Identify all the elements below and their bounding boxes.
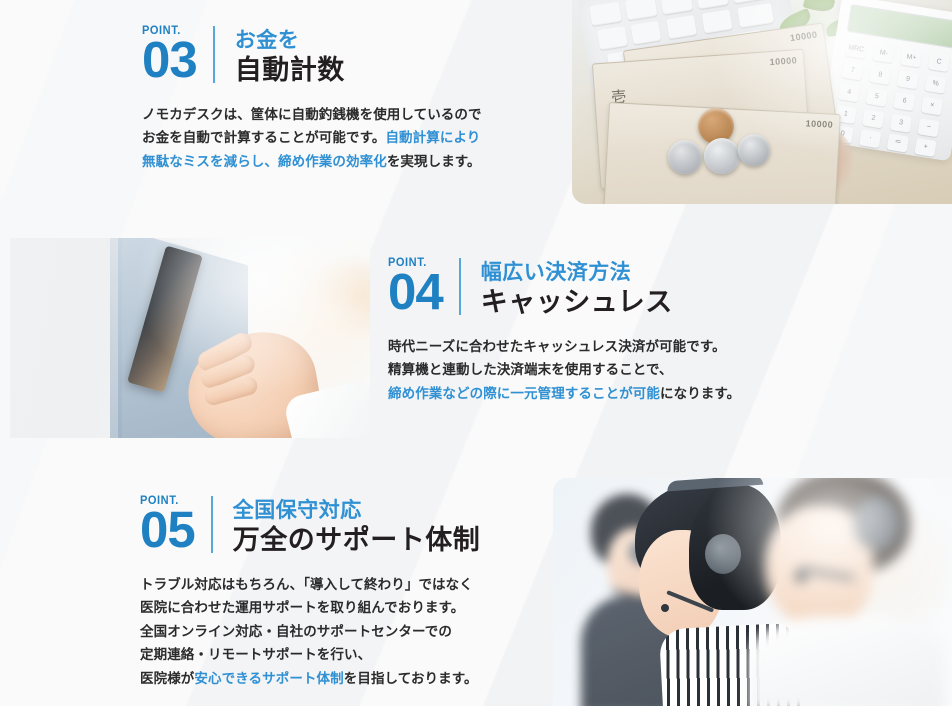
- point-titles-04: 幅広い決済方法 キャッシュレス: [481, 256, 673, 319]
- body-line: 締め作業などの際に一元管理することが可能になります。: [388, 382, 818, 406]
- point-header-03: POINT. 03 お金を 自動計数: [142, 24, 502, 87]
- point-badge-03: POINT. 03: [142, 24, 213, 84]
- point-header-05: POINT. 05 全国保守対応 万全のサポート体制: [140, 494, 540, 557]
- body-text-run: を実現します。: [387, 154, 481, 169]
- body-text-highlight: 無駄なミスを減らし、締め作業の効率化: [142, 154, 387, 169]
- point-divider: [459, 258, 461, 315]
- support-staff-foreground: [749, 478, 949, 706]
- body-text-run: 医院様が: [140, 671, 194, 686]
- body-line: お金を自動で計算することが可能です。自動計算により: [142, 126, 502, 150]
- body-line: 医院様が安心できるサポート体制を目指しております。: [140, 667, 540, 691]
- point-number: 04: [388, 269, 443, 316]
- body-line: 無駄なミスを減らし、締め作業の効率化を実現します。: [142, 150, 502, 174]
- point-header-04: POINT. 04 幅広い決済方法 キャッシュレス: [388, 256, 818, 319]
- money-calculator-photo: MRC M- M+ C 7 8 9 % 4 5 6 × 1 2 3 − 0 · …: [572, 0, 952, 204]
- point-title: キャッシュレス: [481, 286, 673, 319]
- coin-graphic: [704, 138, 740, 174]
- point-body-05: トラブル対応はもちろん、「導入して終わり」ではなく医院に合わせた運用サポートを取…: [140, 573, 540, 691]
- body-text-highlight: 締め作業などの際に一元管理することが可能: [388, 386, 660, 401]
- body-text-run: 精算機と連動した決済端末を使用することで、: [388, 362, 673, 377]
- body-text-run: トラブル対応はもちろん、「導入して終わり」ではなく: [140, 577, 473, 592]
- body-line: 時代ニーズに合わせたキャッシュレス決済が可能です。: [388, 335, 818, 359]
- body-line: 医院に合わせた運用サポートを取り組んでおります。: [140, 596, 540, 620]
- point-subtitle: お金を: [235, 28, 345, 54]
- point-block-05: POINT. 05 全国保守対応 万全のサポート体制 トラブル対応はもちろん、「…: [140, 494, 540, 691]
- headset-earcup: [705, 534, 741, 574]
- point-subtitle: 幅広い決済方法: [481, 260, 673, 286]
- body-text-run: 全国オンライン対応・自社のサポートセンターでの: [140, 624, 452, 639]
- body-text-run: 医院に合わせた運用サポートを取り組んでおります。: [140, 600, 464, 615]
- point-body-04: 時代ニーズに合わせたキャッシュレス決済が可能です。精算機と連動した決済端末を使用…: [388, 335, 818, 406]
- point-titles-03: お金を 自動計数: [235, 24, 345, 87]
- body-line: 全国オンライン対応・自社のサポートセンターでの: [140, 620, 540, 644]
- body-text-run: になります。: [660, 386, 740, 401]
- call-center-support-photo: [553, 478, 952, 706]
- body-text-run: お金を自動で計算することが可能です。: [142, 130, 385, 145]
- point-body-03: ノモカデスクは、筐体に自動釣銭機を使用しているのでお金を自動で計算することが可能…: [142, 103, 502, 174]
- point-badge-05: POINT. 05: [140, 494, 211, 554]
- tablet-in-hand-photo: [10, 238, 370, 438]
- point-divider: [213, 26, 215, 83]
- point-titles-05: 全国保守対応 万全のサポート体制: [233, 494, 481, 557]
- body-line: ノモカデスクは、筐体に自動釣銭機を使用しているので: [142, 103, 502, 127]
- body-text-highlight: 安心できるサポート体制: [194, 671, 343, 686]
- body-line: 定期連絡・リモートサポートを行い、: [140, 643, 540, 667]
- body-text-run: 時代ニーズに合わせたキャッシュレス決済が可能です。: [388, 339, 726, 354]
- coin-graphic: [738, 134, 770, 166]
- body-text-run: 定期連絡・リモートサポートを行い、: [140, 647, 371, 662]
- point-subtitle: 全国保守対応: [233, 498, 481, 524]
- landing-page-points-section: MRC M- M+ C 7 8 9 % 4 5 6 × 1 2 3 − 0 · …: [0, 0, 952, 706]
- point-title: 万全のサポート体制: [233, 524, 481, 557]
- point-divider: [211, 496, 213, 553]
- body-text-run: ノモカデスクは、筐体に自動釣銭機を使用しているので: [142, 107, 482, 122]
- body-line: トラブル対応はもちろん、「導入して終わり」ではなく: [140, 573, 540, 597]
- point-number: 03: [142, 37, 197, 84]
- body-line: 精算機と連動した決済端末を使用することで、: [388, 358, 818, 382]
- point-number: 05: [140, 507, 195, 554]
- body-text-run: を目指しております。: [344, 671, 478, 686]
- point-badge-04: POINT. 04: [388, 256, 459, 316]
- point-block-03: POINT. 03 お金を 自動計数 ノモカデスクは、筐体に自動釣銭機を使用して…: [142, 24, 502, 173]
- coin-graphic: [668, 140, 702, 174]
- headset-mic-tip: [661, 604, 669, 612]
- point-label: POINT.: [142, 24, 181, 36]
- body-text-highlight: 自動計算により: [385, 130, 480, 145]
- point-title: 自動計数: [235, 54, 345, 87]
- point-block-04: POINT. 04 幅広い決済方法 キャッシュレス 時代ニーズに合わせたキャッシ…: [388, 256, 818, 405]
- point-label: POINT.: [388, 256, 427, 268]
- point-label: POINT.: [140, 494, 179, 506]
